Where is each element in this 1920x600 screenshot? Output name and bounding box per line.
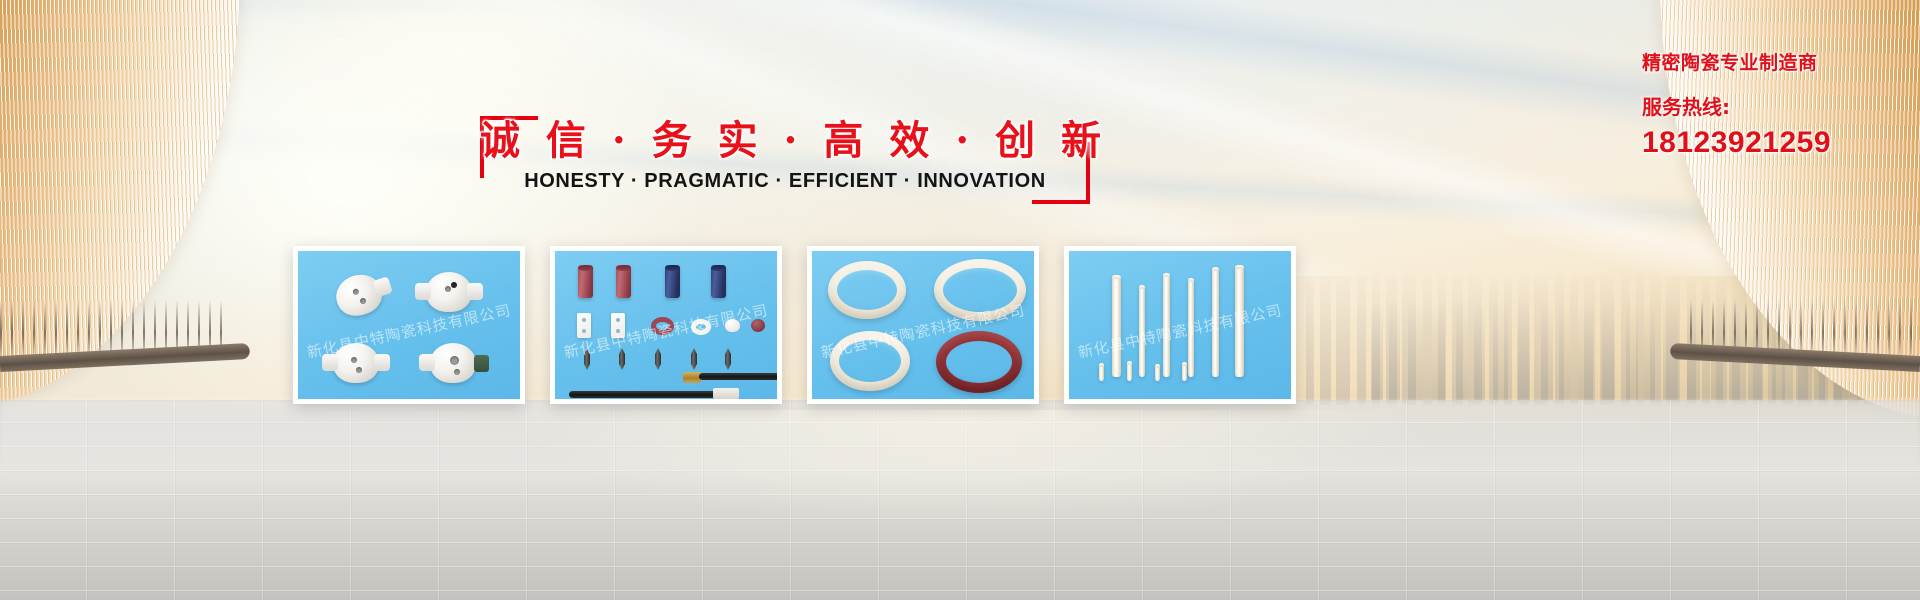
hotline-number[interactable]: 18123921259 (1642, 126, 1862, 160)
red-ceramic-ring (651, 317, 674, 335)
ceramic-rod (1235, 265, 1244, 377)
ceramic-ring-large (934, 259, 1026, 321)
product-panel-row: 新化县中特陶瓷科技有限公司 (293, 246, 1473, 406)
ceramic-ring-red (936, 331, 1022, 393)
blue-ceramic-tube (665, 265, 680, 298)
cable-connector (713, 388, 739, 399)
panel-background (298, 251, 520, 399)
ceramic-rod (1139, 285, 1145, 377)
ceramic-socket (426, 272, 472, 312)
ceramic-rod (1188, 278, 1194, 377)
ceramic-plate (577, 313, 591, 338)
promo-banner: 诚 信 · 务 实 · 高 效 · 创 新 HONESTY · PRAGMATI… (0, 0, 1920, 600)
slogan-chinese: 诚 信 · 务 实 · 高 效 · 创 新 (480, 108, 1090, 166)
white-ceramic-cap (725, 319, 740, 332)
ceramic-socket (333, 343, 379, 383)
blue-ceramic-tube (711, 265, 726, 298)
product-panel-tubes-cables[interactable]: 新化县中特陶瓷科技有限公司 (550, 246, 782, 404)
ceramic-rod (1112, 275, 1121, 377)
contact-block: 精密陶瓷专业制造商 服务热线: 18123921259 (1642, 52, 1862, 160)
ceramic-rod-short (1182, 362, 1187, 381)
power-cable (569, 391, 719, 398)
hotline-label: 服务热线: (1642, 91, 1862, 120)
ceramic-plate (611, 313, 625, 338)
ceramic-socket (430, 343, 476, 383)
ceramic-rod-short (1155, 364, 1160, 381)
slogan-english: HONESTY · PRAGMATIC · EFFICIENT · INNOVA… (480, 170, 1090, 193)
company-tagline: 精密陶瓷专业制造商 (1642, 52, 1862, 75)
product-panel-rods[interactable]: 新化县中特陶瓷科技有限公司 (1064, 246, 1296, 404)
white-ceramic-ring (691, 319, 711, 335)
red-ceramic-cap (751, 319, 765, 332)
ceramic-rod (1163, 273, 1170, 377)
ceramic-rod (1212, 267, 1219, 377)
slogan-block: 诚 信 · 务 实 · 高 效 · 创 新 HONESTY · PRAGMATI… (480, 108, 1090, 198)
ceramic-rod-short (1127, 361, 1132, 381)
ceramic-rod-short (1099, 363, 1104, 381)
floor-highlight (499, 410, 1421, 530)
power-cable (699, 373, 782, 380)
product-panel-rings[interactable]: 新化县中特陶瓷科技有限公司 (807, 246, 1039, 404)
product-panel-lamp-holders[interactable]: 新化县中特陶瓷科技有限公司 (293, 246, 525, 404)
ceramic-ring-large (830, 331, 910, 391)
ceramic-ring-large (828, 261, 906, 319)
red-ceramic-tube (578, 265, 593, 298)
red-ceramic-tube (616, 265, 631, 298)
